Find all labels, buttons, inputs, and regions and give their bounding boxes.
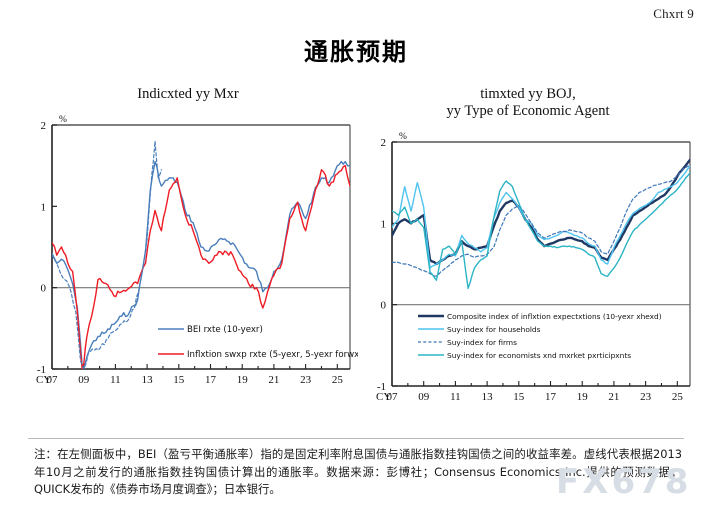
y-tick-label: 2 — [381, 137, 387, 149]
x-tick-label: 21 — [608, 391, 619, 403]
x-tick-label: 09 — [418, 391, 430, 403]
series-line — [52, 141, 161, 369]
page-title: 通胀预期 — [0, 32, 712, 67]
x-axis-prefix-label: CY — [36, 374, 51, 386]
left-plot-area: 210-1%07091113151719212325CYBEI rxte (10… — [18, 111, 358, 421]
footnote-divider — [28, 438, 684, 439]
x-tick-label: 25 — [672, 391, 684, 403]
series-line — [392, 166, 690, 268]
y-tick-label: 1 — [381, 218, 387, 230]
left-chart-svg: 210-1%07091113151719212325CYBEI rxte (10… — [18, 111, 358, 411]
x-tick-label: 17 — [545, 391, 557, 403]
x-tick-label: 23 — [300, 374, 312, 386]
right-plot-area: 210-1%07091113151719212325CYComposite in… — [358, 128, 698, 438]
chart-number: Chxrt 9 — [653, 6, 694, 22]
chart-legend: Composite index of inflxtion expectxtion… — [418, 312, 662, 360]
x-tick-label: 13 — [482, 391, 494, 403]
series-group — [392, 160, 690, 289]
chart-legend: BEI rxte (10-yexr)Inflxtion swxp rxte (5… — [158, 325, 358, 360]
legend-label: Suy-index for households — [447, 325, 541, 334]
y-tick-label: 0 — [41, 283, 47, 295]
y-tick-label: 0 — [381, 300, 387, 312]
left-chart-panel: Indicxted yy Mxr 210-1%07091113151719212… — [18, 86, 358, 421]
x-tick-label: 15 — [173, 374, 185, 386]
x-tick-label: 09 — [78, 374, 90, 386]
x-tick-label: 15 — [513, 391, 525, 403]
right-chart-title: timxted yy BOJ, yy Type of Economic Agen… — [358, 86, 698, 120]
x-tick-label: 25 — [332, 374, 344, 386]
series-line — [392, 160, 690, 264]
y-axis-unit-label: % — [59, 115, 67, 125]
x-tick-label: 19 — [577, 391, 589, 403]
x-tick-label: 19 — [237, 374, 249, 386]
legend-label: Suy-index for economists xnd mxrket pxrt… — [447, 351, 631, 360]
left-chart-title: Indicxted yy Mxr — [18, 86, 358, 103]
right-chart-title-line2: yy Type of Economic Agent — [446, 103, 609, 119]
x-tick-label: 17 — [205, 374, 217, 386]
right-chart-title-line1: timxted yy BOJ, — [480, 86, 575, 102]
right-chart-panel: timxted yy BOJ, yy Type of Economic Agen… — [358, 86, 698, 438]
legend-label: Suy-index for firms — [447, 338, 517, 347]
legend-label: Composite index of inflxtion expectxtion… — [447, 312, 662, 321]
y-axis-unit-label: % — [399, 132, 407, 142]
right-chart-svg: 210-1%07091113151719212325CYComposite in… — [358, 128, 698, 428]
legend-label: BEI rxte (10-yexr) — [187, 325, 263, 335]
x-tick-label: 13 — [142, 374, 154, 386]
x-tick-label: 11 — [110, 374, 121, 386]
footnote-text: 注：在左侧面板中，BEI（盈亏平衡通胀率）指的是固定利率附息国债与通胀指数挂钩国… — [34, 446, 682, 499]
x-axis-prefix-label: CY — [376, 391, 391, 403]
series-line — [52, 162, 350, 369]
y-tick-label: 1 — [41, 201, 47, 213]
series-line — [392, 173, 690, 288]
x-tick-label: 11 — [450, 391, 461, 403]
legend-label: Inflxtion swxp rxte (5-yexr, 5-yexr forw… — [187, 350, 358, 360]
x-tick-label: 21 — [268, 374, 279, 386]
y-tick-label: 2 — [41, 120, 47, 132]
x-tick-label: 23 — [640, 391, 652, 403]
